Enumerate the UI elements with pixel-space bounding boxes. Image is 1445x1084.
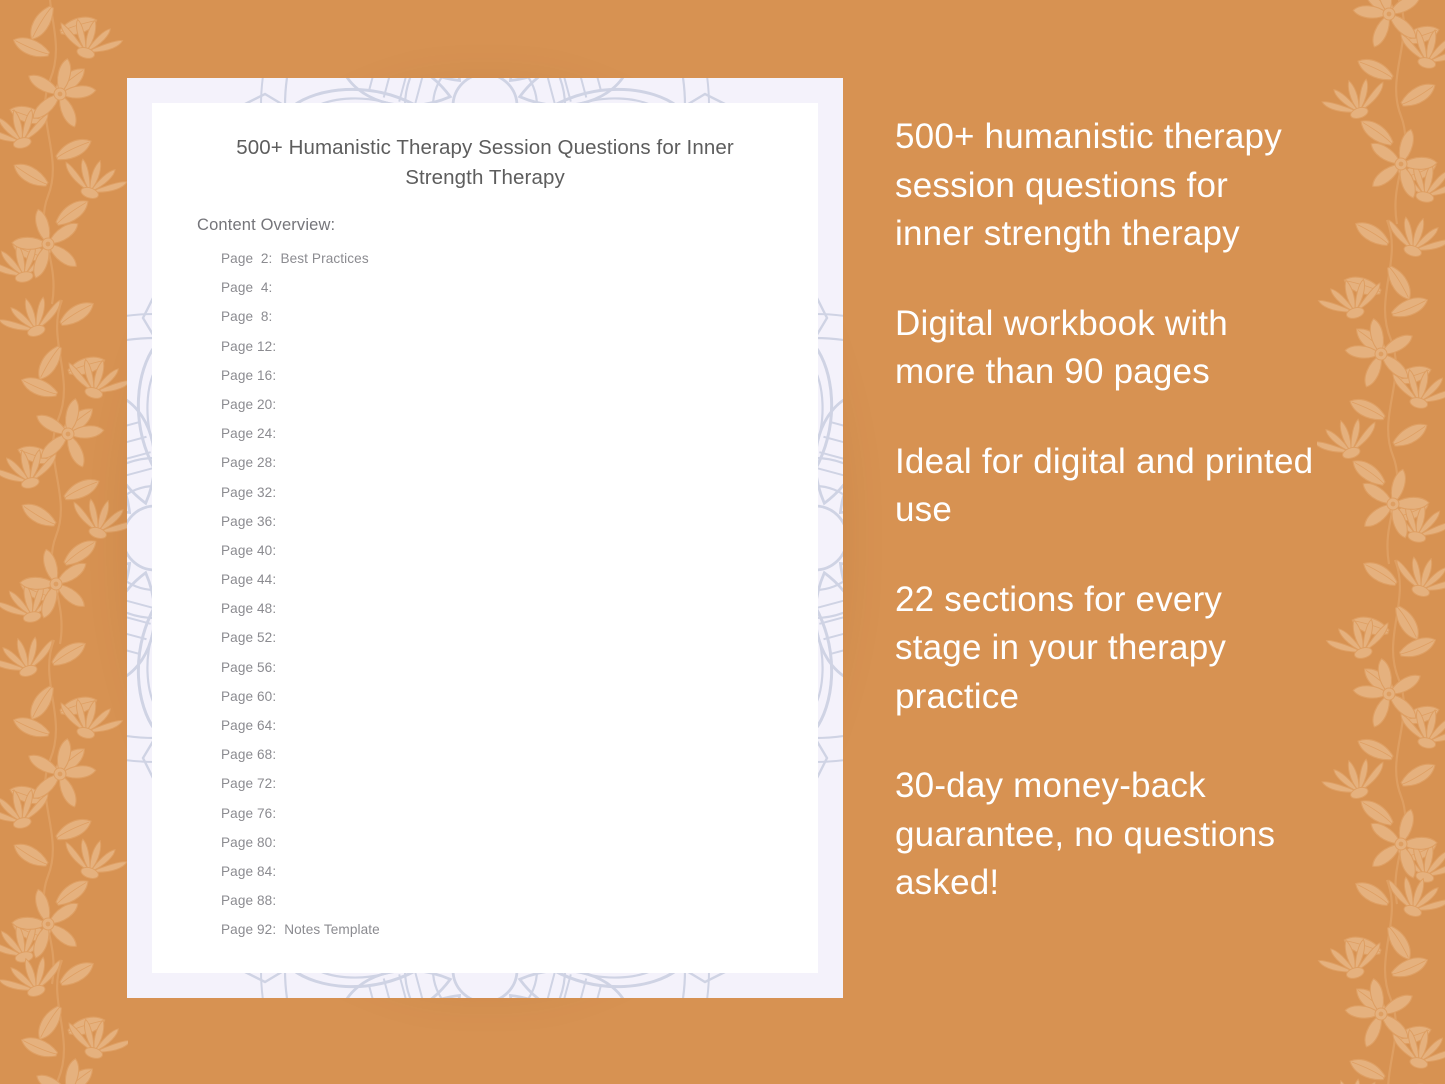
toc-page-number: Page 56: [221, 660, 276, 675]
toc-row: Page 4: [221, 280, 781, 309]
toc-page-number: Page 16: [221, 368, 276, 383]
marketing-bullet: 30-day money-back guarantee, no question… [895, 762, 1315, 908]
toc-row: Page 64: [221, 718, 781, 747]
toc-row: Page 76: [221, 806, 781, 835]
toc-page-number: Page 8: [221, 309, 272, 324]
toc-section-label: Best Practices [280, 251, 368, 266]
document-sheet: 500+ Humanistic Therapy Session Question… [152, 103, 818, 973]
toc-row: Page 52: [221, 630, 781, 659]
toc-page-number: Page 64: [221, 718, 276, 733]
toc-page-number: Page 24: [221, 426, 276, 441]
marketing-bullet: 22 sections for every stage in your ther… [895, 576, 1315, 722]
toc-page-number: Page 12: [221, 339, 276, 354]
toc-page-number: Page 2: [221, 251, 272, 266]
toc-row: Page 56: [221, 660, 781, 689]
toc-row: Page 84: [221, 864, 781, 893]
marketing-bullet: 500+ humanistic therapy session question… [895, 113, 1315, 259]
toc-row: Page 20: [221, 397, 781, 426]
marketing-bullets: 500+ humanistic therapy session question… [895, 113, 1315, 908]
toc-row: Page 88: [221, 893, 781, 922]
toc-row: Page 92:Notes Template [221, 922, 781, 951]
toc-page-number: Page 72: [221, 776, 276, 791]
toc-page-number: Page 44: [221, 572, 276, 587]
toc-page-number: Page 80: [221, 835, 276, 850]
toc-page-number: Page 92: [221, 922, 276, 937]
page-title: 500+ Humanistic Therapy Session Question… [212, 133, 758, 193]
poster-canvas: 500+ Humanistic Therapy Session Question… [0, 0, 1445, 1084]
toc-row: Page 8: [221, 309, 781, 338]
toc-page-number: Page 68: [221, 747, 276, 762]
toc-row: Page 60: [221, 689, 781, 718]
toc-row: Page 48: [221, 601, 781, 630]
toc-page-number: Page 28: [221, 455, 276, 470]
toc-row: Page 40: [221, 543, 781, 572]
toc-page-number: Page 88: [221, 893, 276, 908]
marketing-bullet: Digital workbook with more than 90 pages [895, 300, 1315, 397]
toc-row: Page 16: [221, 368, 781, 397]
toc-section-label: Notes Template [284, 922, 380, 937]
table-of-contents: Page 2:Best PracticesPage 4:Page 8:Page … [221, 251, 781, 952]
content-overview-label: Content Overview: [197, 216, 335, 235]
toc-row: Page 24: [221, 426, 781, 455]
toc-row: Page 36: [221, 514, 781, 543]
toc-row: Page 68: [221, 747, 781, 776]
toc-row: Page 28: [221, 455, 781, 484]
document-card: 500+ Humanistic Therapy Session Question… [127, 78, 843, 998]
floral-vine-icon-right [1317, 0, 1445, 1084]
toc-page-number: Page 76: [221, 806, 276, 821]
toc-row: Page 2:Best Practices [221, 251, 781, 280]
toc-page-number: Page 36: [221, 514, 276, 529]
toc-row: Page 44: [221, 572, 781, 601]
marketing-bullet: Ideal for digital and printed use [895, 438, 1315, 535]
toc-page-number: Page 4: [221, 280, 272, 295]
toc-page-number: Page 20: [221, 397, 276, 412]
toc-row: Page 72: [221, 776, 781, 805]
toc-row: Page 32: [221, 485, 781, 514]
toc-page-number: Page 52: [221, 630, 276, 645]
toc-page-number: Page 40: [221, 543, 276, 558]
toc-row: Page 80: [221, 835, 781, 864]
toc-page-number: Page 60: [221, 689, 276, 704]
toc-page-number: Page 48: [221, 601, 276, 616]
toc-row: Page 12: [221, 339, 781, 368]
toc-page-number: Page 84: [221, 864, 276, 879]
toc-page-number: Page 32: [221, 485, 276, 500]
